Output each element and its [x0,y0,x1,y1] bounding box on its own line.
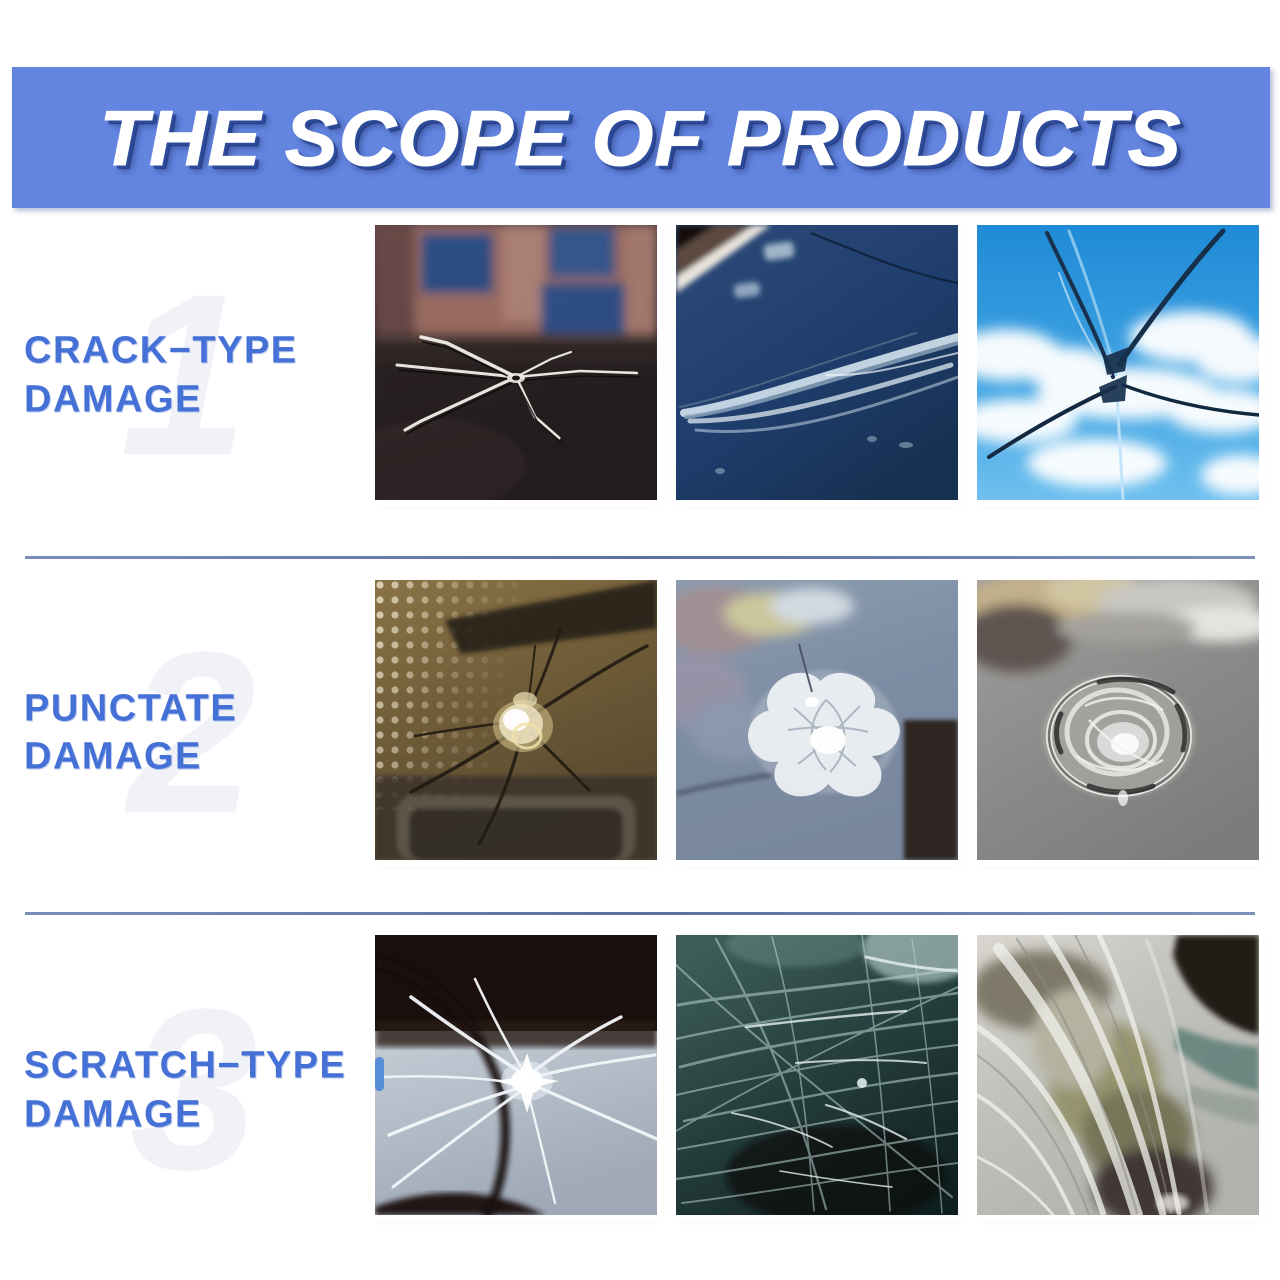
bullseye-chip-grey-glass-photo[interactable] [977,580,1259,860]
dense-scratches-dark-teal-glass-photo[interactable] [676,935,958,1215]
category-label-scratch-type: SCRATCH−TYPE DAMAGE [24,1041,374,1138]
category-label-crack-type: CRACK−TYPE DAMAGE [24,326,374,423]
radiating-crack-sky-clouds-photo[interactable] [977,225,1259,500]
star-impact-with-scratches-photo[interactable] [375,935,657,1215]
thumbnail-strip [375,580,1259,860]
thumbnail-strip [375,225,1259,500]
section-divider [25,556,1255,559]
section-divider [25,912,1255,915]
category-label-line-2: DAMAGE [24,375,374,424]
header-banner: THE SCOPE OF PRODUCTS [12,67,1270,208]
category-label-punctate: PUNCTATE DAMAGE [24,684,374,781]
category-label-line-1: CRACK−TYPE [24,326,374,375]
category-row-crack-type: 1 CRACK−TYPE DAMAGE [0,225,1280,525]
scuffed-bright-glass-corner-photo[interactable] [977,935,1259,1215]
category-label-line-1: SCRATCH−TYPE [24,1041,374,1090]
thumbnail-strip [375,935,1259,1215]
chip-with-legs-olive-windshield-photo[interactable] [375,580,657,860]
long-horizontal-crack-blue-glass-photo[interactable] [676,225,958,500]
category-label-line-2: DAMAGE [24,733,374,782]
star-crack-on-dark-windshield-photo[interactable] [375,225,657,500]
category-row-punctate: 2 PUNCTATE DAMAGE [0,580,1280,885]
category-label-line-1: PUNCTATE [24,684,374,733]
flower-chip-grey-blue-glass-photo[interactable] [676,580,958,860]
category-label-line-2: DAMAGE [24,1090,374,1139]
category-row-scratch-type: 3 SCRATCH−TYPE DAMAGE [0,935,1280,1245]
page-title: THE SCOPE OF PRODUCTS [100,99,1182,177]
